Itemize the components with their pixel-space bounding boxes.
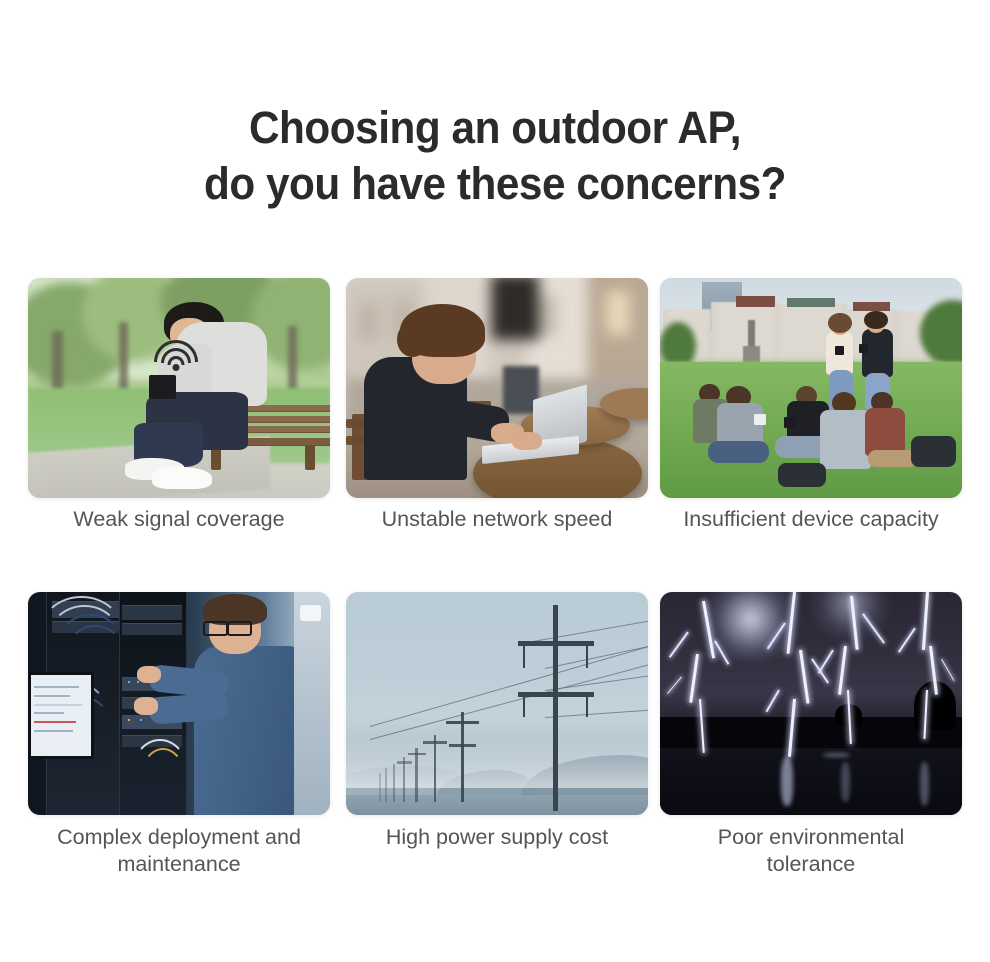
concern-image-weak-signal-coverage (28, 278, 330, 498)
concern-caption-poor-environmental-tolerance: Poor environmental tolerance (660, 824, 962, 878)
concern-caption-high-power-supply-cost: High power supply cost (346, 824, 648, 851)
concern-image-complex-deployment-and-maintenance (28, 592, 330, 815)
concern-caption-unstable-network-speed: Unstable network speed (346, 506, 648, 533)
concern-caption-complex-deployment-and-maintenance: Complex deployment and maintenance (28, 824, 330, 878)
concern-image-poor-environmental-tolerance (660, 592, 962, 815)
wifi-icon (155, 340, 197, 372)
promo-page: Choosing an outdoor AP, do you have thes… (0, 0, 990, 962)
concern-image-unstable-network-speed (346, 278, 648, 498)
concerns-grid: Weak signal coverage (0, 0, 990, 962)
concern-caption-insufficient-device-capacity: Insufficient device capacity (660, 506, 962, 533)
concern-caption-weak-signal-coverage: Weak signal coverage (28, 506, 330, 533)
concern-image-high-power-supply-cost (346, 592, 648, 815)
concern-image-insufficient-device-capacity (660, 278, 962, 498)
